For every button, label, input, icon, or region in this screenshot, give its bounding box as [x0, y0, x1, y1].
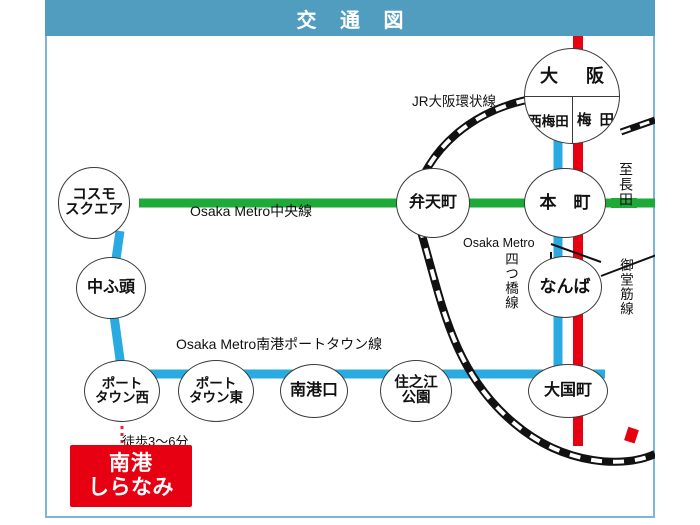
station-osaka-label: 大 阪 — [525, 55, 619, 96]
station-bentencho[interactable]: 弁天町 — [396, 168, 470, 238]
station-daikokucho[interactable]: 大国町 — [528, 364, 608, 418]
destination-badge: 南港 しらなみ — [70, 445, 192, 507]
label-midosuji-line: 御堂筋線 — [615, 258, 635, 316]
station-umeda-label: 梅 田 — [572, 96, 619, 143]
station-nakafuto-line1: 中ふ頭 — [87, 280, 135, 296]
station-cosmosquare-line2: スクエア — [65, 203, 123, 218]
destination-badge-line2: しらなみ — [88, 476, 174, 500]
station-osaka-umeda-complex[interactable]: 大 阪 西梅田 梅 田 — [524, 48, 620, 144]
station-namba-line1: なんば — [540, 278, 591, 295]
station-namba[interactable]: なんば — [528, 256, 602, 318]
station-porttown-west[interactable]: ポート タウン西 — [84, 360, 160, 422]
station-porttown-west-line2: タウン西 — [95, 391, 149, 405]
station-suminoekoen-line2: 公園 — [402, 391, 431, 406]
station-nankoguchi-line1: 南港口 — [290, 383, 338, 399]
map-title-bar: 交 通 図 — [45, 0, 655, 36]
label-nanko-porttown-line: Osaka Metro南港ポートタウン線 — [176, 334, 382, 354]
destination-badge-line1: 南港 — [109, 452, 153, 476]
station-suminoekoen[interactable]: 住之江 公園 — [380, 360, 452, 422]
station-osaka-circle: 大 阪 西梅田 梅 田 — [524, 48, 620, 144]
station-porttown-east-line2: タウン東 — [189, 391, 243, 405]
station-porttown-west-line1: ポート — [102, 377, 143, 391]
station-cosmosquare[interactable]: コスモ スクエア — [58, 167, 130, 239]
station-porttown-east-line1: ポート — [196, 377, 237, 391]
station-porttown-east[interactable]: ポート タウン東 — [178, 360, 254, 422]
transit-map-page: 交 通 図 — [0, 0, 700, 525]
jr-loop-marker — [624, 427, 639, 444]
page-title: 交 通 図 — [287, 4, 412, 33]
label-to-nagata: 至長田 — [616, 162, 636, 207]
label-osaka-metro-prefix: Osaka Metro — [463, 236, 535, 250]
station-hommachi-line1: 本 町 — [540, 194, 591, 211]
station-nankoguchi[interactable]: 南港口 — [280, 364, 348, 418]
station-cosmosquare-line1: コスモ — [72, 188, 116, 203]
station-suminoekoen-line1: 住之江 — [394, 376, 438, 391]
label-chuo-line: Osaka Metro中央線 — [190, 201, 312, 221]
label-yotsubashi-line: 四つ橋線 — [500, 252, 520, 310]
station-bentencho-line1: 弁天町 — [409, 195, 457, 211]
station-daikokucho-line1: 大国町 — [544, 383, 592, 399]
station-nishiumeda-label: 西梅田 — [525, 96, 572, 143]
label-jr-osaka-loop-line: JR大阪環状線 — [412, 90, 496, 110]
station-nakafuto[interactable]: 中ふ頭 — [76, 257, 146, 319]
station-hommachi[interactable]: 本 町 — [524, 168, 606, 238]
